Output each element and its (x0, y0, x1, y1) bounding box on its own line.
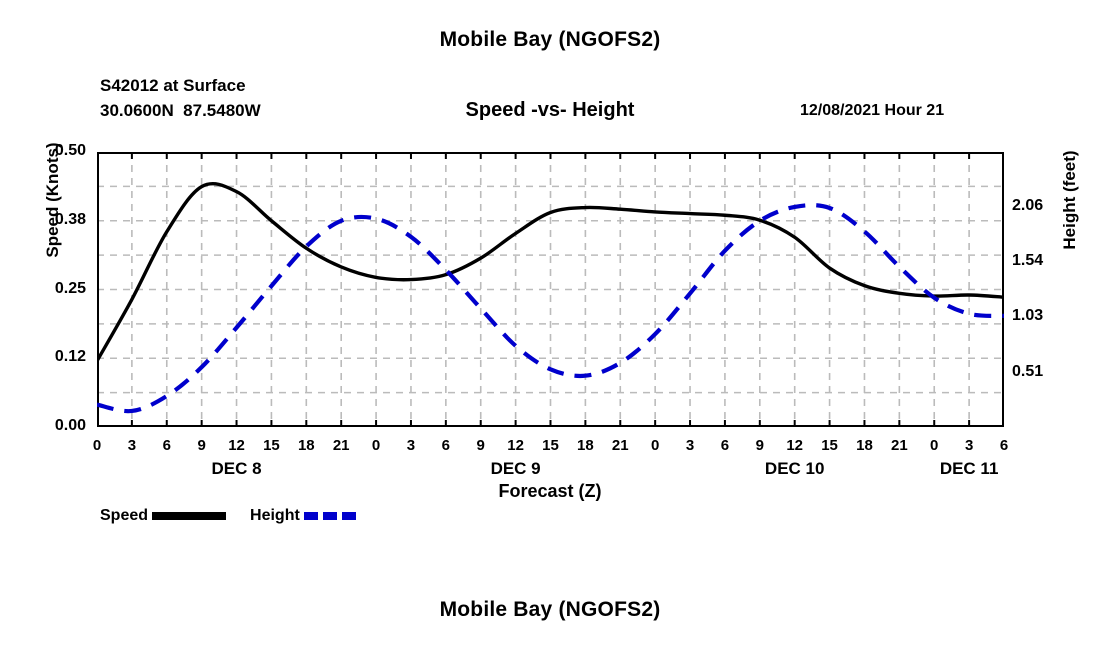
y-axis-left-tick-label: 0.12 (16, 348, 86, 366)
page-title-top: Mobile Bay (NGOFS2) (0, 28, 1100, 52)
legend-item-speed: Speed (100, 507, 228, 525)
legend-label-height: Height (250, 507, 300, 525)
legend-item-height: Height (250, 507, 362, 525)
forecast-date-label: 12/08/2021 Hour 21 (800, 102, 944, 120)
legend-swatch-speed (150, 509, 228, 523)
station-label: S42012 at Surface (100, 73, 246, 98)
y-axis-left-tick-label: 0.00 (16, 417, 86, 435)
chart-legend: Speed Height (100, 507, 362, 525)
y-axis-right-tick-label: 0.51 (1012, 363, 1082, 381)
legend-label-speed: Speed (100, 507, 148, 525)
x-axis-tick-label: 6 (984, 437, 1024, 454)
y-axis-left-title: Speed (Knots) (43, 85, 63, 315)
chart-plot-area (97, 152, 1004, 427)
legend-swatch-height (302, 509, 362, 523)
x-axis-day-label: DEC 9 (446, 459, 586, 479)
y-axis-right-title: Height (feet) (1060, 85, 1080, 315)
x-axis-title: Forecast (Z) (0, 481, 1100, 502)
x-axis-day-label: DEC 11 (899, 459, 1039, 479)
x-axis-day-label: DEC 8 (167, 459, 307, 479)
page-title-bottom: Mobile Bay (NGOFS2) (0, 598, 1100, 622)
chart-svg (97, 152, 1004, 427)
x-axis-day-label: DEC 10 (725, 459, 865, 479)
